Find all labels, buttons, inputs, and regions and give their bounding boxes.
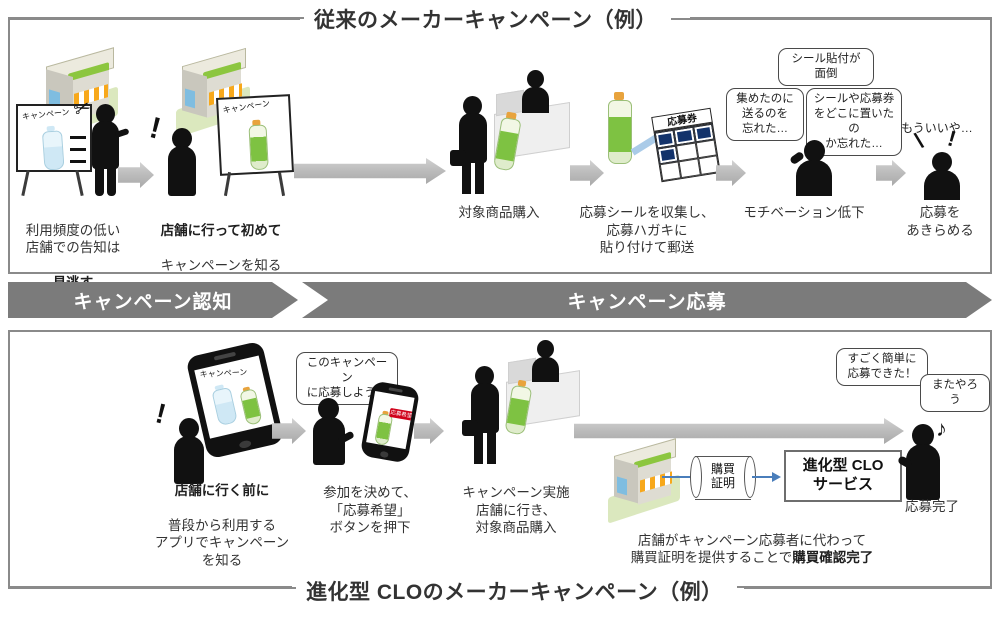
title-rule-right — [690, 17, 992, 19]
title-rule-left — [8, 17, 304, 19]
step-label-t2-text: キャンペーンを知る — [161, 258, 282, 273]
proof-line-out — [752, 476, 774, 478]
bubble-very-easy: すごく簡単に 応募できた！ — [836, 348, 928, 386]
step-label-t6: 応募を あきらめる — [888, 204, 992, 239]
product-bottle-2 — [604, 92, 634, 162]
handbag-shape — [450, 150, 466, 166]
clerk-silhouette — [520, 70, 550, 114]
step-label-t1-text: 利用頻度の低い 店舗での告知は — [26, 223, 121, 256]
phase-band-application: キャンペーン応募 — [302, 282, 992, 318]
poster-label: キャンペーン — [22, 107, 70, 123]
step-label-t1: 利用頻度の低い 店舗での告知は 見逃す — [4, 204, 142, 292]
step-label-b3: キャンペーン実施 店舗に行き、 対象商品購入 — [444, 484, 588, 537]
clo-service-box: 進化型 CLO サービス — [784, 450, 902, 502]
campaign-board: キャンペーン — [216, 94, 294, 176]
shopper-silhouette-2 — [162, 128, 202, 196]
handbag-shape-2 — [462, 420, 478, 436]
phone-screen-label: キャンペーン — [200, 366, 248, 379]
shopper-silhouette-4 — [462, 366, 508, 466]
proof-cylinder-label: 購買 証明 — [690, 456, 756, 498]
step-label-b2: 参加を決めて、 「応募希望」 ボタンを押下 — [302, 484, 438, 537]
title-rule-bottom-right — [744, 587, 992, 589]
app-user-silhouette-2 — [308, 398, 356, 484]
clo-caption-bold: 購買確認完了 — [792, 550, 873, 565]
page-title-traditional: 従来のメーカーキャンペーン（例） — [300, 4, 671, 34]
apply-button[interactable]: 応募希望 — [389, 408, 414, 421]
board-label: キャンペーン — [222, 98, 271, 116]
clo-caption: 店舗がキャンペーン応募者に代わって 購買証明を提供することで購買確認完了 — [596, 514, 908, 567]
shopper-silhouette-3 — [450, 96, 496, 196]
phase-band-awareness: キャンペーン認知 — [8, 282, 298, 318]
bubble-give-up: もういいや… — [894, 118, 980, 140]
clerk-silhouette-2 — [530, 340, 560, 382]
step-label-t3: 対象商品購入 — [434, 204, 564, 222]
step-label-b1: 店舗に行く前に 普段から利用する アプリでキャンペーン を知る — [144, 464, 300, 569]
page-title-clo: 進化型 CLOのメーカーキャンペーン（例） — [292, 576, 737, 606]
step-label-t4: 応募シールを収集し、 応募ハガキに 貼り付けて郵送 — [572, 204, 722, 257]
step-label-b1-text: 普段から利用する アプリでキャンペーン を知る — [155, 518, 289, 568]
step-label-t2-bold: 店舗に行って初めて — [161, 223, 282, 238]
step-label-t2: 店舗に行って初めて キャンペーンを知る — [146, 204, 296, 274]
proof-arrow-head — [772, 472, 781, 482]
bubble-do-again: またやろう — [920, 374, 990, 412]
application-ticket: 応募券 — [651, 108, 721, 183]
step-label-b4: 応募完了 — [884, 498, 980, 516]
frustrated-silhouette — [790, 140, 838, 196]
step-label-t5: モチベーション低下 — [728, 204, 880, 222]
bubble-forgot-send: 集めたのに 送るのを 忘れた… — [726, 88, 804, 141]
bubble-sticker-bother: シール貼付が 面倒 — [778, 48, 874, 86]
happy-silhouette — [898, 424, 950, 500]
title-rule-bottom-left — [8, 587, 296, 589]
step-label-b1-bold: 店舗に行く前に — [175, 483, 270, 498]
purchase-proof-cylinder: 購買 証明 — [690, 456, 756, 498]
diagram-canvas: 従来のメーカーキャンペーン（例） キャンペーン ✂ ! キャンペーン — [0, 0, 1000, 621]
giveup-silhouette — [918, 152, 966, 200]
store-icon-3 — [608, 446, 680, 512]
